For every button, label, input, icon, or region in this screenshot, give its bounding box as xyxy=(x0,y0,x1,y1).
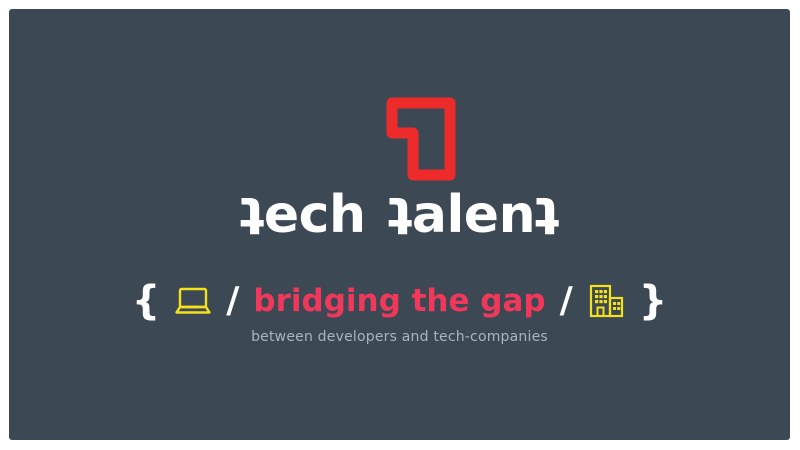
wordmark-rotated-t-3: t xyxy=(535,189,559,241)
slide-canvas: techtalent { / bridging the gap / xyxy=(0,0,800,450)
brand-card: techtalent { / bridging the gap / xyxy=(9,9,790,440)
office-building-icon xyxy=(587,282,625,320)
separator-right: / xyxy=(560,283,573,319)
tagline-text: bridging the gap xyxy=(253,286,545,317)
tagline-row: { / bridging the gap / xyxy=(9,277,790,325)
subtitle: between developers and tech-companies xyxy=(9,329,790,345)
wordmark-talent-mid: alen xyxy=(412,185,535,245)
wordmark-tech-rest: ech xyxy=(264,185,366,245)
wordmark-word-tech: tech xyxy=(240,189,366,241)
logo-mark-container xyxy=(9,97,790,185)
wordmark-word-talent: talent xyxy=(388,189,560,241)
separator-left: / xyxy=(226,283,239,319)
wordmark-rotated-t: t xyxy=(240,189,264,241)
wordmark-rotated-t-2: t xyxy=(388,189,412,241)
rotated-one-mark-icon xyxy=(383,97,459,181)
laptop-icon xyxy=(174,285,212,317)
close-brace: } xyxy=(639,281,667,321)
wordmark: techtalent xyxy=(9,189,790,241)
open-brace: { xyxy=(132,281,160,321)
logo-mark-offset xyxy=(383,97,459,185)
